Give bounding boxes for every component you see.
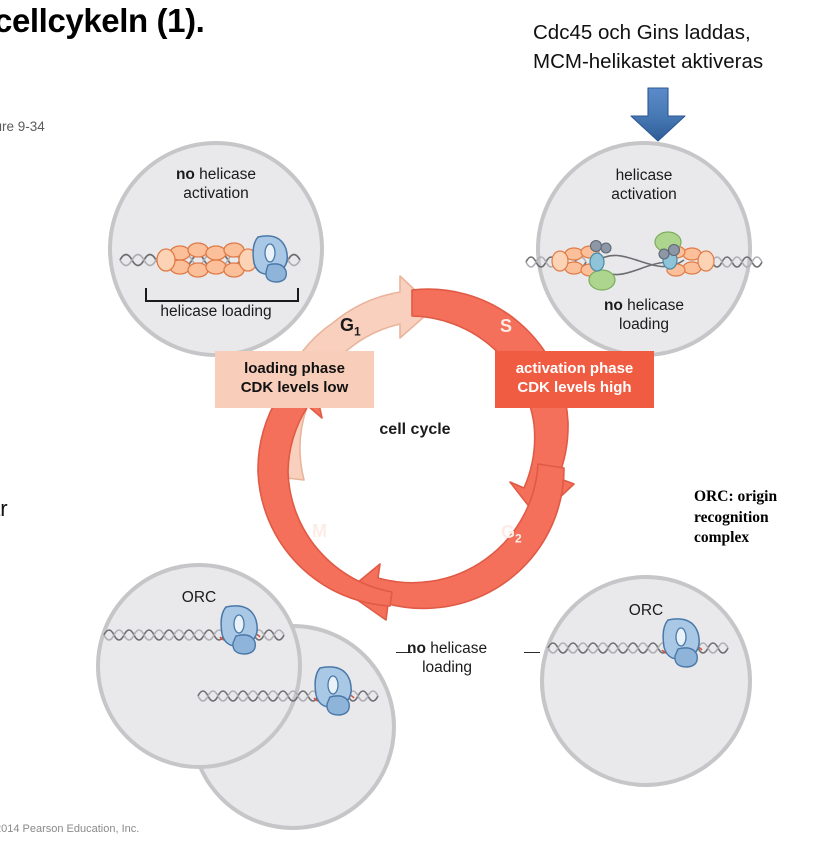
- figure-caption: gure 9-34: [0, 119, 45, 134]
- dna-orc-daughter-2: [196, 666, 396, 718]
- activation-phase-line-2: CDK levels high: [505, 379, 644, 398]
- orc-legend-line-3: complex: [694, 528, 777, 549]
- copyright-notice: 2014 Pearson Education, Inc.: [0, 823, 139, 835]
- callout-no-strong: no: [407, 640, 426, 657]
- activation-phase-line-1: activation phase: [505, 360, 644, 379]
- activation-phase-box: activation phase CDK levels high: [495, 351, 654, 408]
- orc-legend-line-2: recognition: [694, 508, 777, 529]
- loading-phase-line-1: loading phase: [225, 360, 364, 379]
- cell-cycle-diagram: [238, 272, 594, 628]
- replication-fork-right-icon: [655, 232, 714, 276]
- cycle-center-label: cell cycle: [0, 421, 830, 439]
- orc-complex-icon: [315, 667, 351, 715]
- down-arrow-icon: [627, 86, 689, 144]
- margin-text-line-1: ar: [0, 492, 8, 526]
- callout-rest: helicase: [426, 640, 487, 657]
- annotation-line-2: MCM-helikastet aktiveras: [533, 47, 763, 76]
- no-helicase-loading-callout: no helicase loading: [407, 639, 487, 677]
- margin-text-line-2: .: [0, 526, 8, 560]
- callout-leader-right: [524, 652, 540, 653]
- orc-complex-icon: [663, 619, 699, 667]
- loading-phase-box: loading phase CDK levels low: [215, 351, 374, 408]
- cell-bottom-right: [540, 575, 752, 787]
- loading-phase-line-2: CDK levels low: [225, 379, 364, 398]
- annotation-line-1: Cdc45 och Gins laddas,: [533, 18, 763, 47]
- dna-orc-bottom-right: [546, 618, 746, 670]
- dna-orc-daughter-1: [102, 605, 302, 657]
- orc-complex-icon: [221, 606, 257, 654]
- margin-text: ar .: [0, 492, 8, 560]
- orc-legend: ORC: origin recognition complex: [694, 487, 777, 549]
- orc-legend-line-1: ORC: origin: [694, 487, 777, 508]
- annotation-text: Cdc45 och Gins laddas, MCM-helikastet ak…: [533, 18, 763, 76]
- callout-line-2: loading: [407, 658, 487, 677]
- slide-title: cellcykeln (1).: [0, 2, 204, 40]
